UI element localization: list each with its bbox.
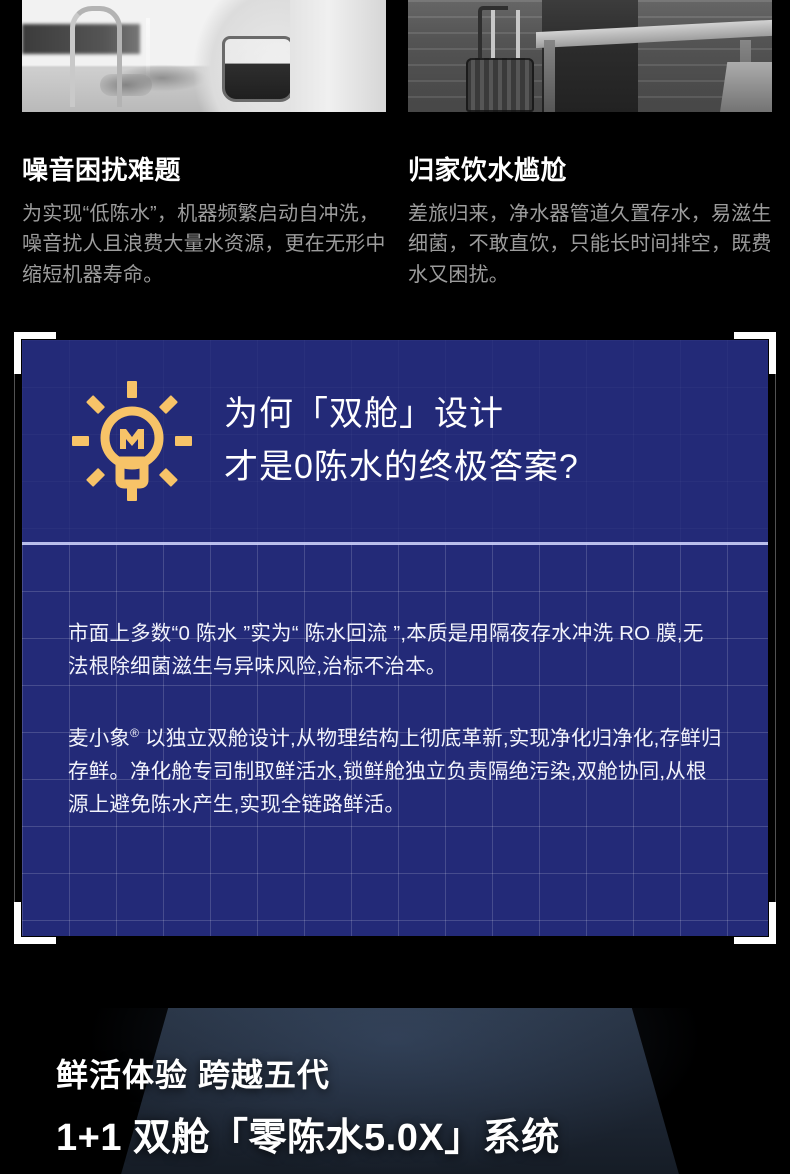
panel-title-line1: 为何「双舱」设计: [224, 388, 579, 441]
panel-title-line2: 才是0陈水的终极答案?: [224, 441, 579, 494]
corner-bracket-top-right: [734, 332, 776, 374]
person-shape: [542, 0, 638, 112]
suitcase-shape: [466, 58, 534, 112]
problem-cards: 噪音困扰难题 为实现“低陈水”，机器频繁启动自冲洗，噪音扰人且浪费大量水资源，更…: [0, 0, 790, 290]
stool-shape: [720, 62, 772, 112]
kitchen-faucet-photo: [22, 0, 386, 112]
problem-card: 归家饮水尴尬 差旅归来，净水器管道久置存水，易滋生细菌，不敢直饮，只能长时间排空…: [408, 0, 772, 290]
corner-bracket-top-left: [14, 332, 56, 374]
hero-line-1: 鲜活体验 跨越五代: [56, 1050, 560, 1096]
traveler-table-photo: [408, 0, 772, 112]
sleeve-shape: [290, 0, 386, 112]
corner-bracket-bottom-left: [14, 902, 56, 944]
hand-shape: [100, 74, 152, 96]
suitcase-handle-shape: [491, 10, 495, 60]
panel-paragraph-2-rest: 以独立双舱设计,从物理结构上彻底革新,实现净化归净化,存鲜归存鲜。净化舱专司制取…: [68, 727, 722, 816]
panel-title: 为何「双舱」设计 才是0陈水的终极答案?: [224, 388, 579, 493]
pitcher-shape: [222, 36, 294, 102]
card-title: 噪音困扰难题: [22, 150, 386, 187]
brand-name: 麦小象: [68, 727, 130, 750]
lightbulb-m-icon: [70, 379, 194, 503]
hero-section: 鲜活体验 跨越五代 1+1 双舱「零陈水5.0X」系统: [0, 1008, 790, 1174]
card-body: 为实现“低陈水”，机器频繁启动自冲洗，噪音扰人且浪费大量水资源，更在无形中缩短机…: [22, 199, 386, 290]
suitcase-handle-shape: [516, 10, 520, 60]
table-leg-shape: [544, 40, 555, 112]
guide-line-left: [14, 370, 15, 906]
card-body: 差旅归来，净水器管道久置存水，易滋生细菌，不敢直饮，只能长时间排空，既费水又困扰…: [408, 199, 772, 290]
hero-text: 鲜活体验 跨越五代 1+1 双舱「零陈水5.0X」系统: [56, 1050, 560, 1161]
registered-mark: ®: [130, 726, 139, 740]
problem-card: 噪音困扰难题 为实现“低陈水”，机器频繁启动自冲洗，噪音扰人且浪费大量水资源，更…: [22, 0, 386, 290]
corner-bracket-bottom-right: [734, 902, 776, 944]
panel-body: 市面上多数“0 陈水 ”实为“ 陈水回流 ”,本质是用隔夜存水冲洗 RO 膜,无…: [22, 542, 768, 936]
card-title: 归家饮水尴尬: [408, 150, 772, 187]
panel-paragraph-1: 市面上多数“0 陈水 ”实为“ 陈水回流 ”,本质是用隔夜存水冲洗 RO 膜,无…: [68, 617, 722, 683]
panel-paragraph-2: 麦小象® 以独立双舱设计,从物理结构上彻底革新,实现净化归净化,存鲜归存鲜。净化…: [68, 722, 722, 822]
guide-line-right: [775, 370, 776, 906]
hero-line-2: 1+1 双舱「零陈水5.0X」系统: [56, 1106, 560, 1161]
panel-header: 为何「双舱」设计 才是0陈水的终极答案?: [22, 340, 768, 542]
why-dual-chamber-panel: 为何「双舱」设计 才是0陈水的终极答案? 市面上多数“0 陈水 ”实为“ 陈水回…: [22, 340, 768, 936]
